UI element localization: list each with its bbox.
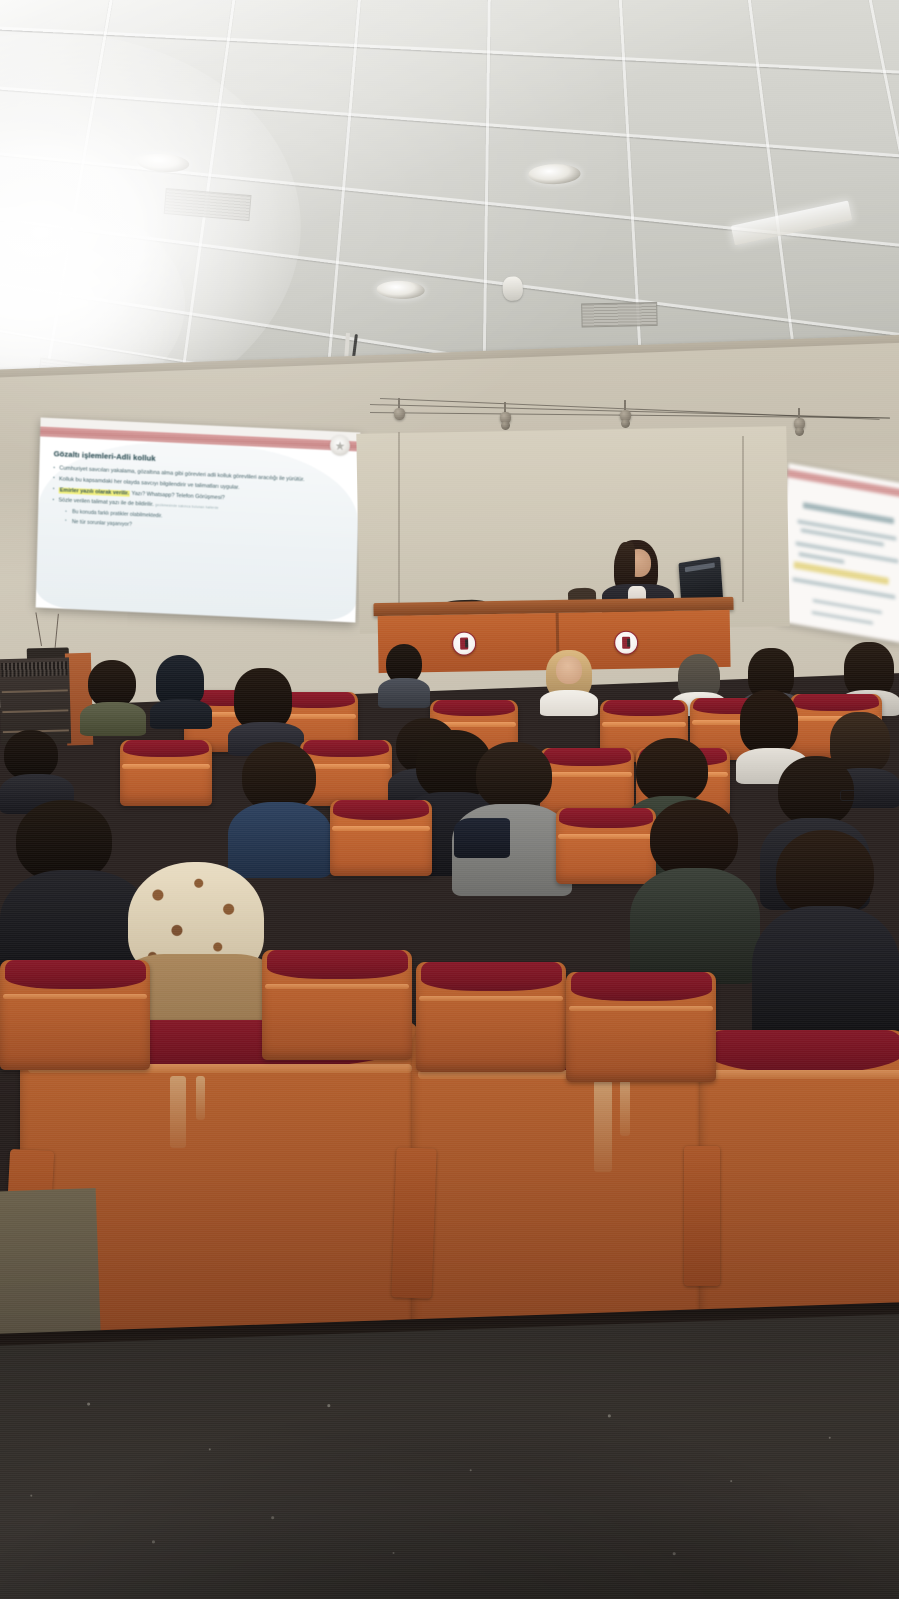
seat[interactable]: [262, 950, 412, 1060]
shoulder-bag: [454, 818, 510, 858]
lecture-hall-photo: Gözaltı işlemleri-Adli kolluk Cumhuriyet…: [0, 0, 899, 1599]
seat[interactable]: [566, 972, 716, 1082]
recessed-downlight: [376, 280, 425, 299]
audience-member: [452, 742, 572, 892]
slide-body: Gözaltı işlemleri-Adli kolluk Cumhuriyet…: [36, 436, 360, 622]
seat[interactable]: [330, 800, 432, 876]
floor: [0, 1313, 899, 1599]
seat-armrest: [684, 1146, 720, 1286]
smoke-detector: [502, 276, 523, 301]
audience-member: [228, 668, 304, 752]
audience-member: [80, 660, 146, 732]
seat[interactable]: [0, 960, 150, 1070]
slide-bullet-main: Sözle verilen talimat yazı ile de bildir…: [58, 498, 153, 508]
audience-member-blonde: [538, 650, 600, 712]
slide-bullet-note: gecikmesinde sakınca bulunan hallerde: [155, 503, 218, 510]
slide-highlight-text: Emirler yazılı olarak verilir.: [59, 487, 130, 496]
audience-member: [0, 730, 74, 810]
audience-member: [752, 830, 899, 1040]
seat[interactable]: [416, 962, 566, 1072]
track-spotlight: [792, 408, 806, 442]
audience-member: [228, 742, 332, 872]
track-spotlight: [392, 398, 406, 428]
audience-member-headscarf: [150, 655, 212, 725]
audience-member: [378, 644, 430, 704]
slide-highlight-rest: Yazı? Whatsapp? Telefon Görüşmesi?: [131, 490, 224, 500]
institution-logo-icon: [330, 435, 351, 456]
air-vent: [164, 188, 252, 221]
headscarf: [156, 655, 204, 705]
projection-screen-secondary: [775, 463, 899, 643]
audience-member: [630, 800, 760, 980]
seat-foreground[interactable]: [700, 1030, 899, 1342]
eyeglasses: [840, 790, 864, 801]
seat[interactable]: [120, 740, 212, 806]
seat-armrest: [391, 1147, 436, 1298]
air-vent: [581, 302, 657, 328]
projection-screen-main: Gözaltı işlemleri-Adli kolluk Cumhuriyet…: [36, 417, 361, 622]
recessed-downlight: [528, 164, 580, 185]
